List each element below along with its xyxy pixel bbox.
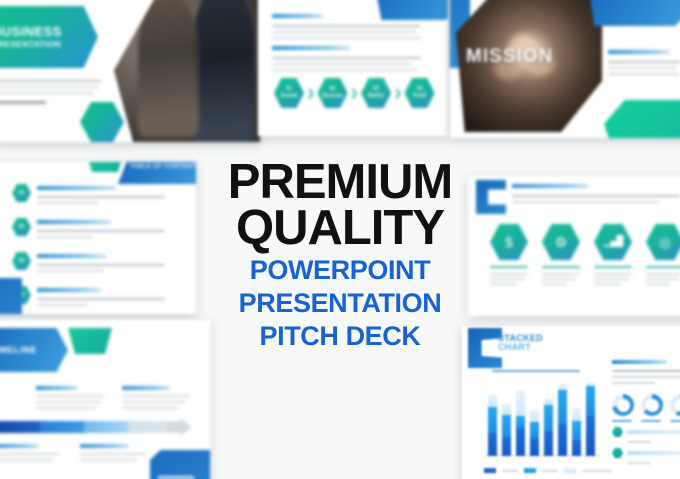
chart-bar: [530, 410, 539, 456]
chart-bar: [502, 404, 511, 456]
legend-swatch: [484, 468, 496, 473]
donut-chart: [612, 394, 634, 416]
stat-hexagon: 02Revenue: [318, 78, 348, 108]
handshake-photo: [114, 0, 260, 142]
stat-label: Market: [368, 93, 384, 99]
chart-subtitle: [492, 370, 580, 372]
donut-row: [612, 394, 680, 422]
stat-value: 03: [373, 86, 379, 92]
mission-header-badge: OUR MISSION: [588, 0, 680, 26]
chart-bar: [558, 384, 567, 456]
timeline-arrow-tip: [166, 418, 192, 436]
chevron-right-icon: ❯: [307, 88, 315, 99]
chevron-right-icon: ❯: [351, 88, 359, 99]
executive-section-2: [272, 46, 422, 71]
progress-row: [612, 427, 680, 437]
stat-hexagon: 01Growth: [274, 78, 304, 108]
executive-stat-hexagons: 01Growth ❯ 02Revenue ❯ 03Market ❯ 04Prof…: [274, 78, 435, 108]
progress-marker-hexagon: [612, 427, 623, 437]
stat-label: Revenue: [322, 93, 343, 99]
chart-bar: [516, 390, 525, 456]
legend-swatch: [524, 468, 536, 473]
cover-slide: BUSINESS PRESENTATION: [0, 0, 260, 142]
mission-green-corner: [604, 100, 680, 138]
stat-hexagon: 04Profit: [405, 78, 435, 108]
progress-marker-hexagon: [612, 448, 623, 458]
chart-bar: [488, 394, 497, 456]
stat-value: 02: [330, 86, 336, 92]
chart-bar: [586, 382, 595, 456]
stat-hexagon: 03Market: [361, 78, 391, 108]
executive-section-1: [272, 14, 422, 39]
timeline-blue-corner: [150, 450, 210, 479]
stat-value: 04: [417, 86, 423, 92]
stacked-bar-plot: [484, 384, 600, 462]
progress-track: [627, 430, 680, 434]
mission-slide: MISSION OUR MISSION: [450, 0, 680, 138]
donut-chart: [670, 394, 680, 416]
headline-premium: PREMIUM: [0, 160, 680, 206]
mission-title: MISSION: [466, 46, 553, 68]
cover-banner: BUSINESS PRESENTATION: [0, 6, 98, 68]
headline-powerpoint: POWERPOINT: [0, 256, 680, 284]
cover-title: BUSINESS: [0, 25, 98, 39]
chart-bar: [572, 408, 581, 456]
headline-presentation: PRESENTATION: [0, 289, 680, 317]
thumbnail-canvas: BUSINESS PRESENTATION EXECUTIVE SUMMARY: [0, 0, 680, 479]
executive-summary-slide: EXECUTIVE SUMMARY 01Growth ❯ 02Revenue ❯…: [258, 0, 448, 136]
timeline-block-above-2: [122, 386, 190, 409]
donut-chart: [641, 394, 663, 416]
timeline-arrow: [0, 418, 192, 436]
stat-label: Profit: [413, 93, 426, 99]
headline-pitch-deck: PITCH DECK: [0, 322, 680, 350]
chart-legend: [484, 468, 612, 473]
chart-bar: [544, 398, 553, 456]
legend-swatch: [564, 468, 576, 473]
headline-quality: QUALITY: [0, 206, 680, 252]
progress-row: [612, 448, 680, 458]
stat-label: Growth: [280, 93, 298, 99]
timeline-block-above-1: [36, 386, 104, 409]
chart-side-panel: [612, 360, 680, 464]
mission-body-text: [608, 50, 680, 75]
cover-accent-hexagon: [80, 102, 124, 142]
stat-value: 01: [286, 86, 292, 92]
progress-track: [627, 451, 680, 455]
cover-subtitle: PRESENTATION: [0, 39, 98, 49]
chevron-right-icon: ❯: [394, 88, 402, 99]
headline-block: PREMIUM QUALITY POWERPOINT PRESENTATION …: [0, 160, 680, 350]
cover-body-text: [0, 80, 102, 104]
timeline-block-below-2: [80, 444, 146, 461]
timeline-block-below-1: [0, 444, 60, 461]
